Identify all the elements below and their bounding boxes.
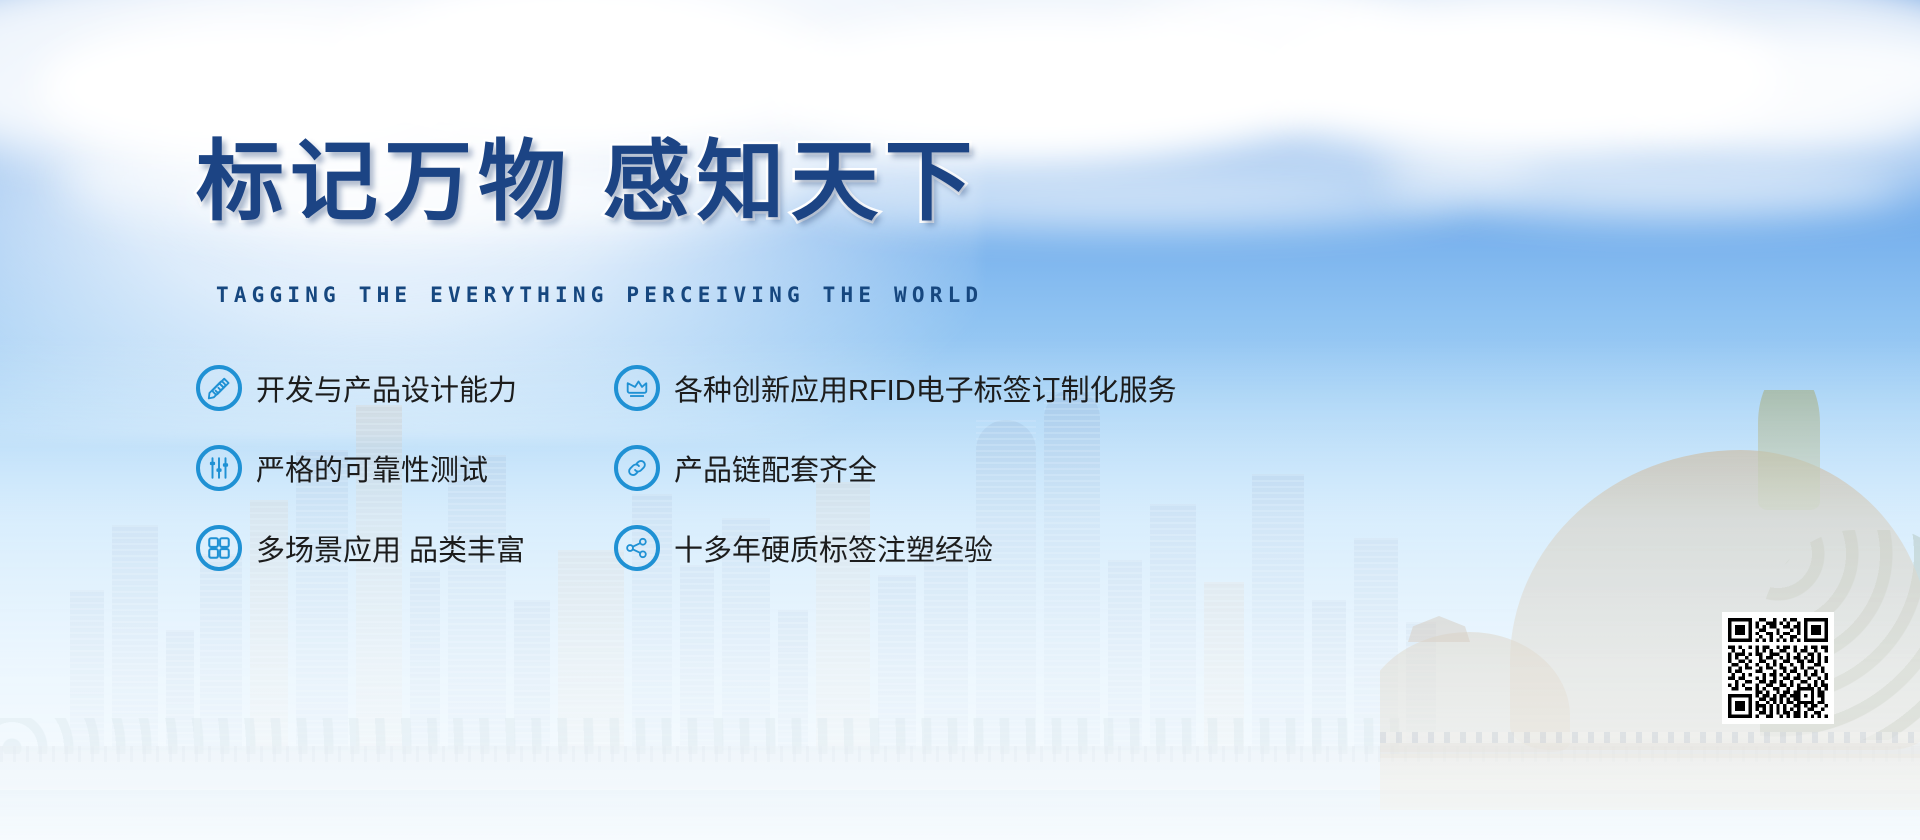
ruler-pencil-icon: [196, 365, 242, 411]
feature-label: 各种创新应用RFID电子标签订制化服务: [674, 367, 1177, 409]
feature-item-rfid-customization: 各种创新应用RFID电子标签订制化服务: [614, 358, 1314, 418]
feature-item-multi-scenario: 多场景应用 品类丰富: [196, 518, 596, 578]
feature-item-molding-experience: 十多年硬质标签注塑经验: [614, 518, 1314, 578]
share-network-icon: [614, 525, 660, 571]
subheadline: TAGGING THE EVERYTHING PERCEIVING THE WO…: [216, 283, 983, 307]
banner-content: 标记万物 感知天下 TAGGING THE EVERYTHING PERCEIV…: [0, 0, 1920, 840]
grid-squares-icon: [196, 525, 242, 571]
feature-item-product-chain: 产品链配套齐全: [614, 438, 1314, 498]
promo-banner: 标记万物 感知天下 TAGGING THE EVERYTHING PERCEIV…: [0, 0, 1920, 840]
crown-icon: [614, 365, 660, 411]
feature-column-right: 各种创新应用RFID电子标签订制化服务 产品链配套齐全: [614, 358, 1314, 598]
feature-label: 十多年硬质标签注塑经验: [674, 527, 993, 569]
feature-label: 开发与产品设计能力: [256, 367, 517, 409]
feature-label: 多场景应用 品类丰富: [256, 527, 525, 569]
qr-code-icon[interactable]: [1722, 612, 1834, 724]
feature-label: 产品链配套齐全: [674, 447, 877, 489]
chain-link-icon: [614, 445, 660, 491]
feature-item-reliability-testing: 严格的可靠性测试: [196, 438, 596, 498]
headline: 标记万物 感知天下: [196, 138, 978, 226]
sliders-icon: [196, 445, 242, 491]
feature-label: 严格的可靠性测试: [256, 447, 488, 489]
feature-item-development-design: 开发与产品设计能力: [196, 358, 596, 418]
feature-column-left: 开发与产品设计能力 严格的可靠性测试: [196, 358, 596, 598]
